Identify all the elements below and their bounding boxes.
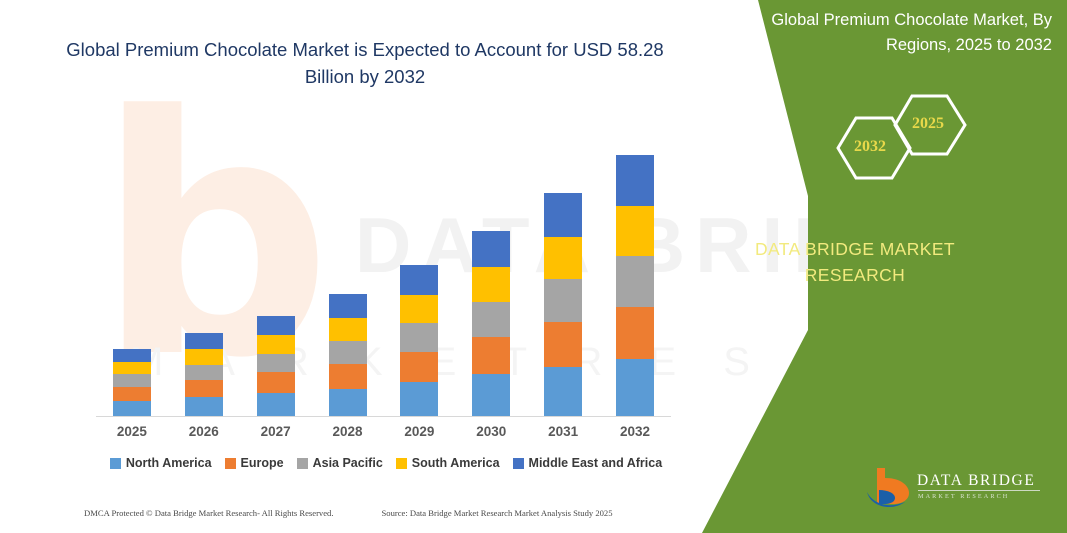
bar-segment: [329, 341, 367, 364]
footer: DMCA Protected © Data Bridge Market Rese…: [0, 508, 700, 518]
bar-segment: [472, 337, 510, 374]
bar-column: [240, 110, 312, 416]
bar-segment: [329, 364, 367, 389]
bar-segment: [185, 397, 223, 416]
bar-segment: [185, 349, 223, 364]
stacked-bar: [113, 349, 151, 416]
footer-source: Source: Data Bridge Market Research Mark…: [382, 508, 613, 518]
x-axis-tick-label: 2031: [527, 424, 599, 439]
logo-tagline: MARKET RESEARCH: [918, 493, 1009, 500]
legend-item[interactable]: South America: [396, 456, 500, 470]
stacked-bar: [257, 316, 295, 417]
bar-segment: [257, 316, 295, 336]
right-panel-title: Global Premium Chocolate Market, By Regi…: [730, 8, 1052, 58]
bar-segment: [400, 265, 438, 295]
bar-segment: [400, 295, 438, 323]
page-title: Global Premium Chocolate Market is Expec…: [60, 36, 670, 90]
stacked-bar: [544, 193, 582, 416]
bar-segment: [400, 352, 438, 383]
bar-column: [168, 110, 240, 416]
x-axis-line: [96, 416, 671, 417]
stacked-bar-chart: [96, 110, 671, 416]
chart-legend: North AmericaEuropeAsia PacificSouth Ame…: [96, 456, 676, 470]
legend-label: South America: [412, 456, 500, 470]
legend-swatch-icon: [396, 458, 407, 469]
bar-segment: [472, 302, 510, 337]
stacked-bar: [472, 231, 510, 416]
hexagon-outlines: [820, 90, 980, 210]
bar-segment: [544, 279, 582, 322]
legend-label: North America: [126, 456, 212, 470]
logo-bridge-icon: [865, 466, 913, 512]
bar-segment: [113, 401, 151, 416]
legend-swatch-icon: [225, 458, 236, 469]
bar-segment: [113, 374, 151, 386]
legend-item[interactable]: Europe: [225, 456, 284, 470]
chart-panel: Global Premium Chocolate Market is Expec…: [0, 0, 720, 533]
bar-segment: [257, 354, 295, 373]
hex-label-2032: 2032: [854, 138, 886, 156]
bar-segment: [185, 333, 223, 349]
bar-segment: [257, 335, 295, 354]
x-axis-tick-label: 2026: [168, 424, 240, 439]
bar-segment: [472, 231, 510, 267]
x-axis-tick-label: 2030: [455, 424, 527, 439]
logo-divider: [918, 490, 1040, 491]
right-green-panel: Global Premium Chocolate Market, By Regi…: [640, 0, 1067, 533]
bar-segment: [400, 323, 438, 351]
bar-segment: [472, 267, 510, 302]
bar-segment: [544, 193, 582, 237]
x-axis-tick-label: 2025: [96, 424, 168, 439]
bar-column: [384, 110, 456, 416]
stacked-bar: [329, 294, 367, 416]
legend-swatch-icon: [110, 458, 121, 469]
legend-label: Asia Pacific: [313, 456, 383, 470]
footer-copyright: DMCA Protected © Data Bridge Market Rese…: [84, 508, 334, 518]
bar-segment: [472, 374, 510, 416]
bar-column: [455, 110, 527, 416]
brand-line-2: RESEARCH: [685, 262, 1025, 288]
bar-column: [96, 110, 168, 416]
brand-line-1: DATA BRIDGE MARKET: [685, 236, 1025, 262]
hex-label-2025: 2025: [912, 115, 944, 133]
bar-segment: [544, 237, 582, 280]
stacked-bar: [400, 265, 438, 416]
x-axis-tick-label: 2027: [240, 424, 312, 439]
bar-column: [312, 110, 384, 416]
legend-label: Europe: [241, 456, 284, 470]
infographic-root: b DATA BRIDGE M A R K E T R E S E A R C …: [0, 0, 1067, 533]
bar-segment: [185, 380, 223, 397]
bar-segment: [113, 387, 151, 401]
bar-segment: [544, 322, 582, 367]
legend-item[interactable]: Asia Pacific: [297, 456, 383, 470]
logo-wordmark: DATA BRIDGE: [917, 472, 1035, 490]
company-logo: DATA BRIDGE MARKET RESEARCH: [865, 466, 1050, 516]
legend-item[interactable]: North America: [110, 456, 212, 470]
x-axis-tick-label: 2028: [312, 424, 384, 439]
bar-segment: [113, 362, 151, 374]
bar-segment: [329, 294, 367, 318]
bar-column: [527, 110, 599, 416]
bar-segment: [329, 318, 367, 341]
bar-segment: [257, 393, 295, 416]
brand-name: DATA BRIDGE MARKET RESEARCH: [685, 236, 1025, 288]
bar-segment: [185, 365, 223, 380]
bar-segment: [257, 372, 295, 393]
x-axis-labels: 20252026202720282029203020312032: [96, 424, 671, 439]
bar-segment: [113, 349, 151, 362]
hexagon-badges: 2032 2025: [820, 90, 980, 210]
legend-swatch-icon: [297, 458, 308, 469]
bar-segment: [400, 382, 438, 416]
legend-swatch-icon: [513, 458, 524, 469]
stacked-bar: [185, 333, 223, 416]
x-axis-tick-label: 2029: [384, 424, 456, 439]
bar-segment: [329, 389, 367, 416]
bar-segment: [544, 367, 582, 416]
